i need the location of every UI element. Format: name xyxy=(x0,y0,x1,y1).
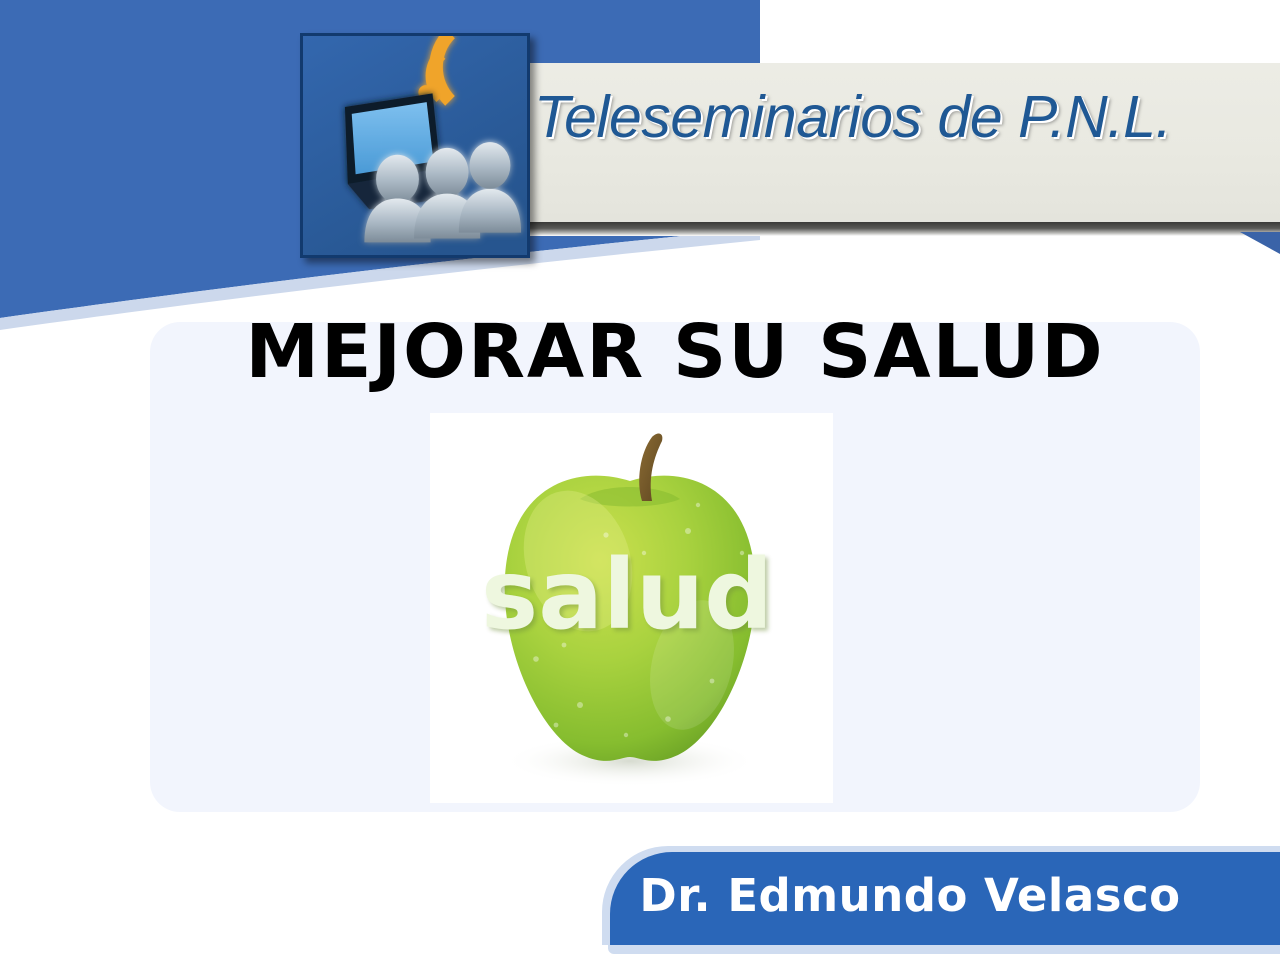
teleseminar-logo xyxy=(300,33,530,258)
author-banner-underline xyxy=(608,945,1280,954)
apple-overlay-text: salud xyxy=(481,539,773,651)
header-title: Teleseminarios de P.N.L. xyxy=(534,83,1274,151)
presentation-slide: Teleseminarios de P.N.L. xyxy=(0,0,1280,960)
slide-title: MEJORAR SU SALUD xyxy=(150,315,1200,389)
author-name: Dr. Edmundo Velasco xyxy=(610,869,1210,922)
header-banner-shadow xyxy=(498,222,1280,236)
green-apple-photo: salud salud xyxy=(430,413,833,803)
header-banner-corner-accent xyxy=(1240,232,1280,254)
